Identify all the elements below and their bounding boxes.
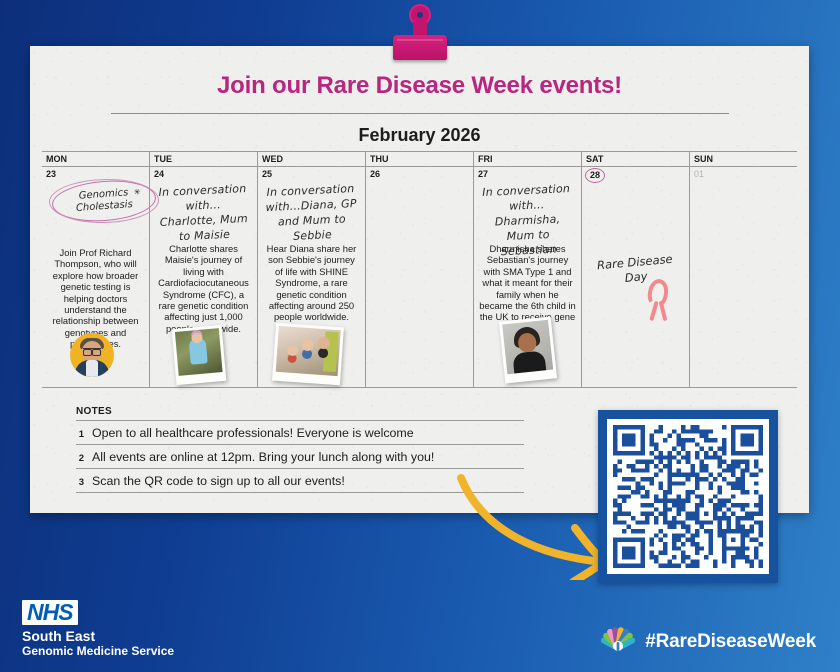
event-photo-27 — [499, 316, 557, 383]
calendar-cell-01[interactable]: 01 — [690, 167, 797, 388]
event-photo-25 — [272, 323, 344, 386]
event-description-25: Hear Diana share her son Sebbie's journe… — [263, 243, 360, 323]
page-title: Join our Rare Disease Week events! — [30, 72, 809, 100]
day-number-28: 28 — [585, 168, 605, 183]
calendar-week-row: 23 Genomics Cholestasis ✳ Join Prof Rich… — [42, 167, 797, 388]
day-header-tue: TUE — [150, 152, 258, 166]
bulldog-clip — [393, 4, 447, 60]
speaker-avatar-richard-thompson — [70, 333, 114, 377]
signup-qr-code[interactable] — [598, 410, 778, 583]
day-header-sun: SUN — [690, 152, 797, 166]
day-number-24: 24 — [154, 169, 164, 179]
day-header-mon: MON — [42, 152, 150, 166]
note-text-1: Open to all healthcare professionals! Ev… — [92, 426, 414, 440]
nhs-region-label: South East — [22, 628, 174, 644]
circled-note-line2: Cholestasis — [76, 199, 134, 215]
note-item-1: 1 Open to all healthcare professionals! … — [76, 421, 524, 445]
day-header-thu: THU — [366, 152, 474, 166]
rare-disease-day-hands-icon — [600, 626, 636, 658]
circled-note-genomics-cholestasis: Genomics Cholestasis ✳ — [51, 177, 158, 224]
calendar-cell-25[interactable]: 25 In conversation with...Diana, GP and … — [258, 167, 366, 388]
clip-jaw — [393, 35, 447, 60]
event-description-24: Charlotte shares Maisie's journey of liv… — [155, 243, 252, 334]
calendar-cell-23[interactable]: 23 Genomics Cholestasis ✳ Join Prof Rich… — [42, 167, 150, 388]
nhs-wordmark: NHS — [22, 600, 78, 625]
note-number-1: 1 — [76, 429, 84, 440]
calendar-day-headers: MON TUE WED THU FRI SAT SUN — [42, 152, 797, 167]
nhs-logo: NHS South East Genomic Medicine Service — [22, 600, 174, 658]
note-item-2: 2 All events are online at 12pm. Bring y… — [76, 445, 524, 469]
note-number-2: 2 — [76, 453, 84, 464]
day-number-27: 27 — [478, 169, 488, 179]
day-number-01: 01 — [694, 169, 704, 179]
calendar-cell-28[interactable]: 28 Rare Disease Day — [582, 167, 690, 388]
title-divider — [111, 113, 729, 114]
notes-title: NOTES — [76, 406, 524, 421]
nhs-service-label: Genomic Medicine Service — [22, 644, 174, 658]
note-text-3: Scan the QR code to sign up to all our e… — [92, 474, 345, 488]
day-header-wed: WED — [258, 152, 366, 166]
month-label: February 2026 — [30, 125, 809, 146]
hashtag-block: #RareDiseaseWeek — [600, 626, 816, 658]
day-header-sat: SAT — [582, 152, 690, 166]
event-photo-24 — [172, 325, 227, 385]
day-number-23: 23 — [46, 169, 56, 179]
event-headline-24: In conversation with... Charlotte, Mum t… — [155, 181, 253, 245]
hashtag-text: #RareDiseaseWeek — [645, 631, 816, 653]
calendar-grid: MON TUE WED THU FRI SAT SUN 23 Genomics … — [42, 151, 797, 388]
note-text-2: All events are online at 12pm. Bring you… — [92, 450, 434, 464]
clip-ring-inner — [414, 9, 426, 21]
calendar-cell-24[interactable]: 24 In conversation with... Charlotte, Mu… — [150, 167, 258, 388]
asterisk-icon: ✳ — [133, 187, 140, 196]
day-number-25: 25 — [262, 169, 272, 179]
awareness-ribbon-icon — [644, 279, 674, 323]
day-number-26: 26 — [370, 169, 380, 179]
calendar-cell-26[interactable]: 26 — [366, 167, 474, 388]
day-header-fri: FRI — [474, 152, 582, 166]
note-number-3: 3 — [76, 477, 84, 488]
event-headline-25: In conversation with...Diana, GP and Mum… — [263, 181, 361, 245]
calendar-cell-27[interactable]: 27 In conversation with... Dharmisha, Mu… — [474, 167, 582, 388]
